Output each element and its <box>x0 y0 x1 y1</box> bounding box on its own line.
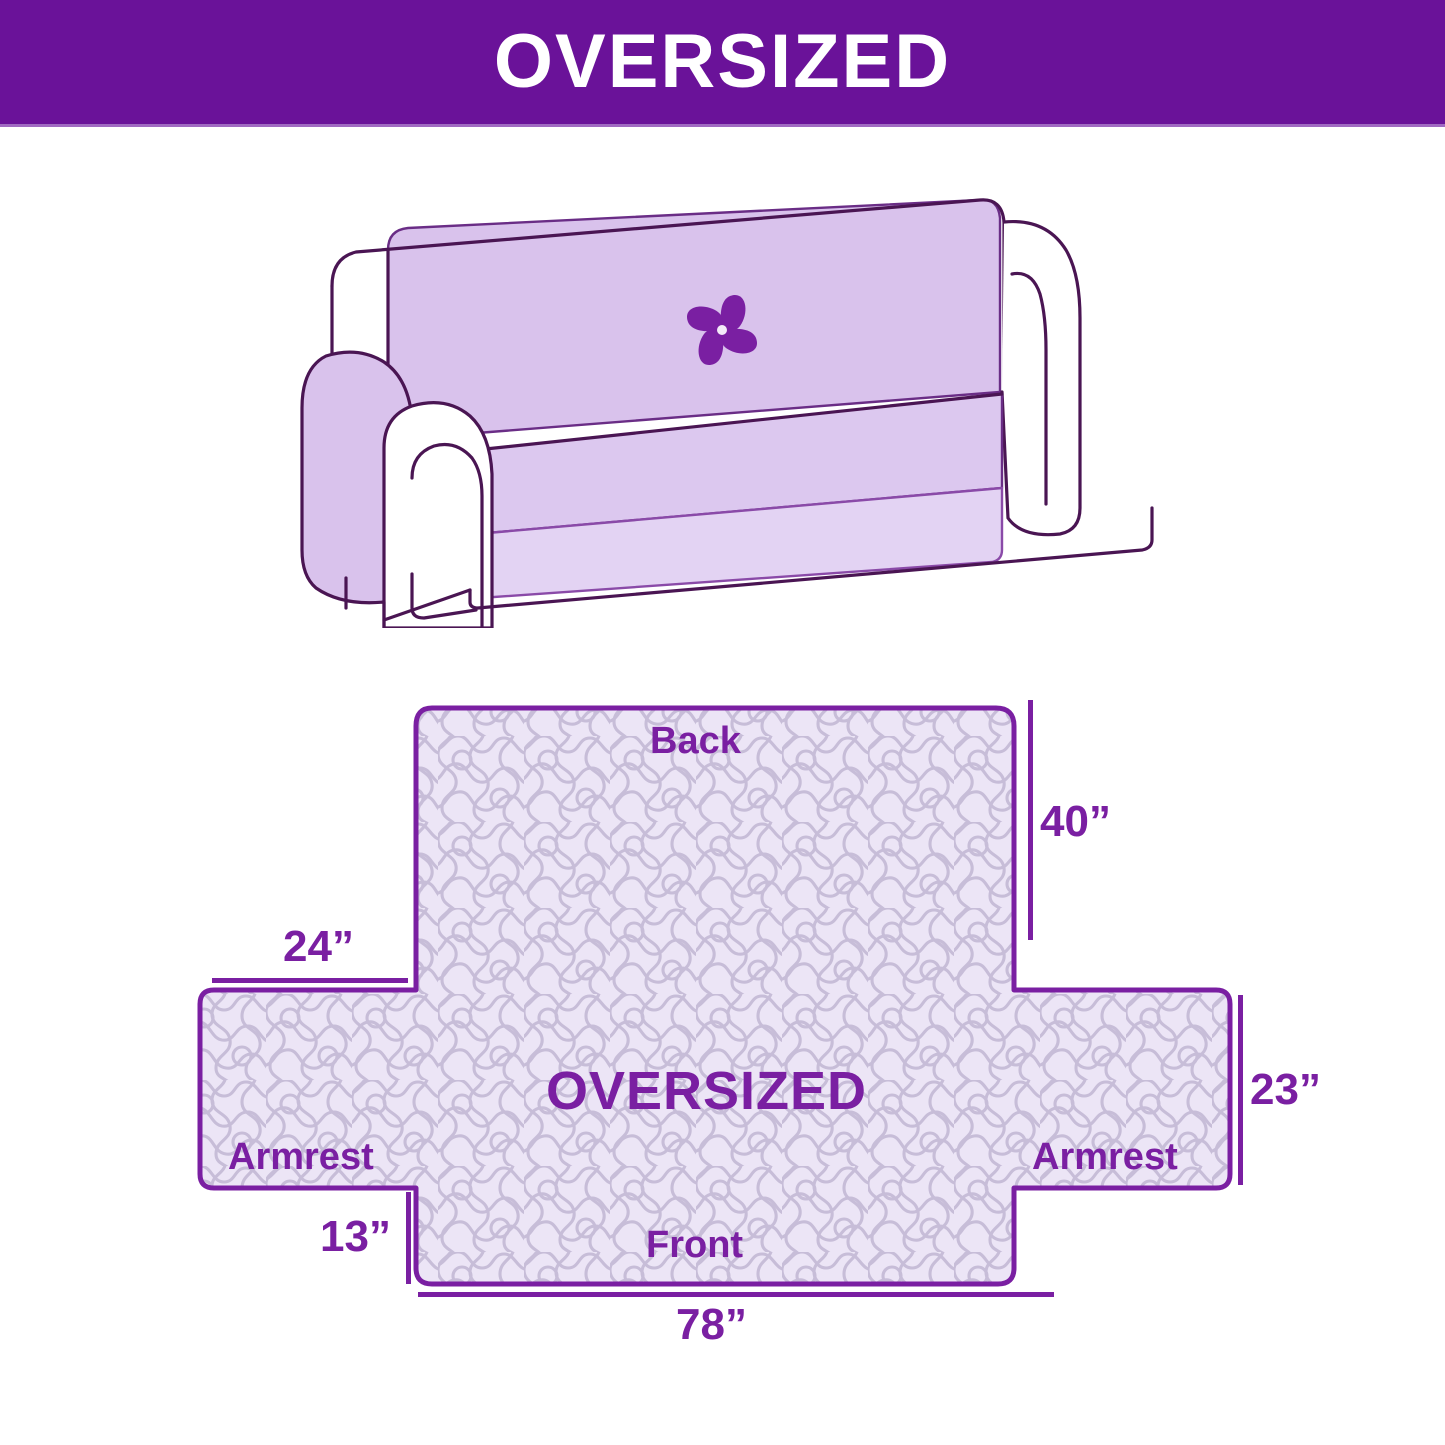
sofa-illustration <box>280 178 1190 628</box>
part-label-back: Back <box>650 722 741 760</box>
part-label-armrest-right: Armrest <box>1032 1138 1178 1176</box>
dimension-label-armrest-top-width: 24” <box>283 925 354 969</box>
part-label-front: Front <box>646 1226 743 1264</box>
header-banner: OVERSIZED <box>0 0 1445 124</box>
dimension-rule-armrest-top-width <box>212 978 408 983</box>
dimension-rule-back-height <box>1028 700 1033 940</box>
dimension-rule-armrest-height <box>1238 995 1243 1185</box>
part-label-armrest-left: Armrest <box>228 1138 374 1176</box>
dimension-label-armrest-height: 23” <box>1250 1068 1321 1112</box>
pattern-center-label: OVERSIZED <box>546 1064 867 1118</box>
dimension-label-total-width: 78” <box>676 1303 747 1347</box>
sofa-right-arm <box>1002 222 1080 535</box>
dimension-rule-front-drop <box>406 1192 411 1284</box>
dimension-rule-total-width <box>418 1292 1054 1297</box>
dimension-label-back-height: 40” <box>1040 800 1111 844</box>
sofa-left-arm-inner <box>384 403 492 628</box>
cover-pattern-shape <box>200 708 1230 1284</box>
banner-underline <box>0 124 1445 127</box>
flat-pattern-diagram: Back Armrest Armrest Front OVERSIZED <box>180 650 1360 1370</box>
page-title: OVERSIZED <box>494 24 951 100</box>
dimension-label-front-drop: 13” <box>320 1215 391 1259</box>
